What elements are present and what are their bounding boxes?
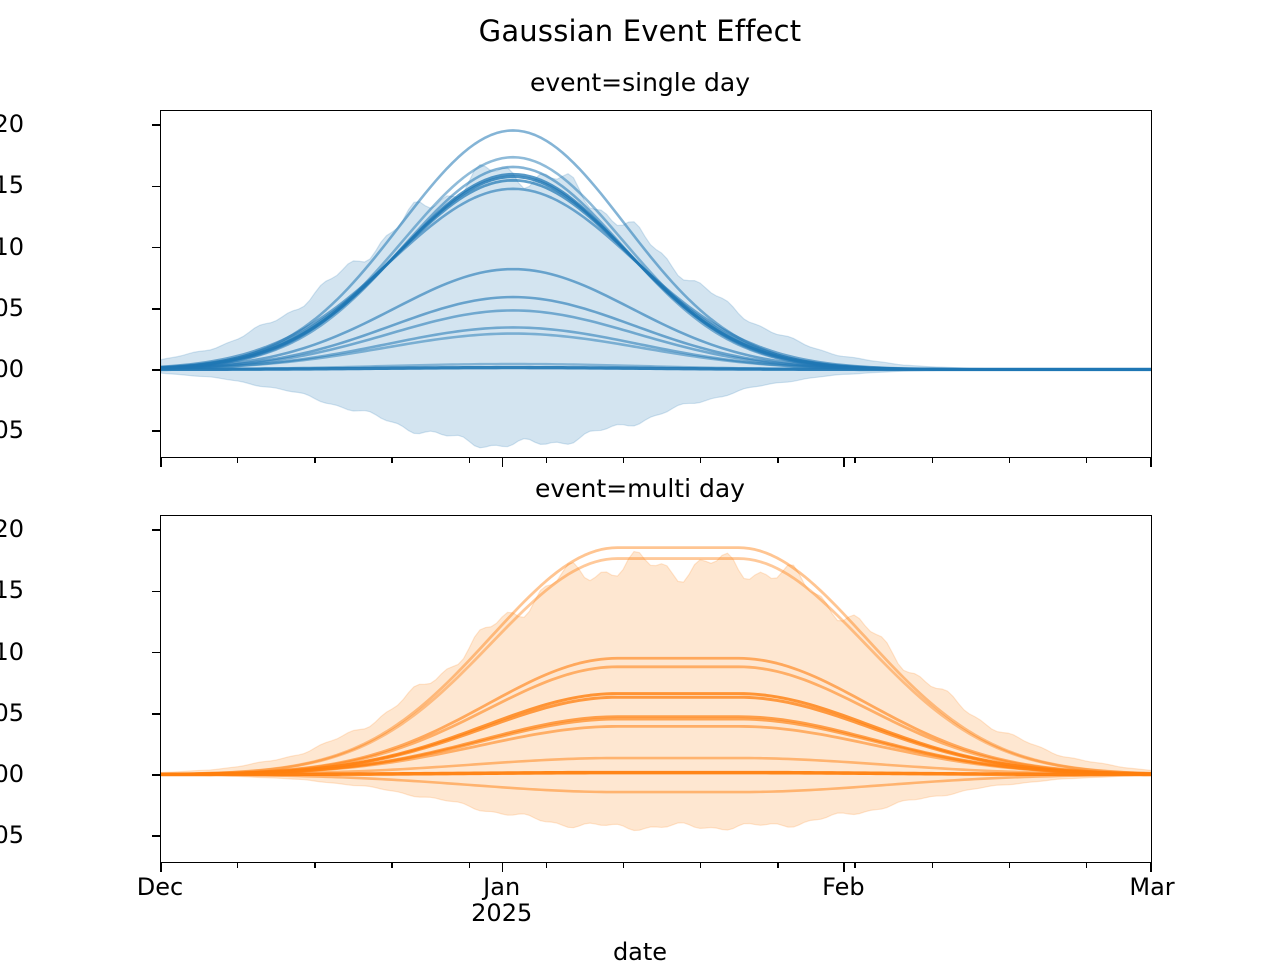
- x-tick-major: [843, 863, 845, 872]
- x-tick-minor: [469, 458, 470, 463]
- y-tick-label: 0.15: [0, 173, 24, 197]
- x-tick-minor: [623, 458, 624, 463]
- y-tick-mark: [152, 713, 160, 715]
- credible-interval-band: [161, 552, 1151, 831]
- y-tick-label: 0.00: [0, 762, 24, 786]
- y-tick-mark: [152, 308, 160, 310]
- y-tick-label: 0.20: [0, 112, 24, 136]
- credible-interval-band: [161, 165, 1151, 448]
- x-tick-label: Feb: [822, 875, 865, 901]
- x-tick-minor: [391, 458, 392, 463]
- x-tick-minor: [391, 863, 392, 868]
- x-tick-minor: [854, 458, 855, 463]
- x-tick-minor: [932, 458, 933, 463]
- x-tick-major: [843, 458, 845, 467]
- y-axis-single-day: 0.200.150.100.050.00−0.05: [0, 110, 152, 458]
- y-tick-mark: [152, 774, 160, 776]
- figure-title: Gaussian Event Effect: [0, 14, 1280, 48]
- x-tick-major: [160, 458, 162, 467]
- x-tick-minor: [777, 863, 778, 868]
- y-tick-mark: [152, 430, 160, 432]
- x-tick-label-month: Feb: [822, 873, 865, 901]
- y-tick-label: 0.00: [0, 357, 24, 381]
- y-tick-mark: [152, 529, 160, 531]
- y-tick-label: 0.10: [0, 640, 24, 664]
- x-tick-major: [502, 863, 504, 872]
- x-tick-minor: [546, 863, 547, 868]
- y-tick-mark: [152, 591, 160, 593]
- y-tick-label: 0.15: [0, 578, 24, 602]
- x-tick-minor: [1009, 863, 1010, 868]
- y-tick-mark: [152, 369, 160, 371]
- y-tick-mark: [152, 186, 160, 188]
- matplotlib-figure: Gaussian Event Effect event=single day 0…: [0, 0, 1280, 960]
- axes-multi-day: [160, 515, 1152, 863]
- x-tick-minor: [623, 863, 624, 868]
- x-tick-minor: [854, 863, 855, 868]
- x-tick-minor: [700, 863, 701, 868]
- x-tick-minor: [314, 863, 315, 868]
- x-tick-major: [502, 458, 504, 467]
- y-tick-label: 0.10: [0, 235, 24, 259]
- subplot-title-single-day: event=single day: [0, 68, 1280, 97]
- y-tick-mark: [152, 124, 160, 126]
- x-tick-major: [1150, 458, 1152, 467]
- subplot-title-multi-day: event=multi day: [0, 474, 1280, 503]
- x-tick-minor: [1086, 458, 1087, 463]
- x-tick-label-month: Dec: [137, 873, 183, 901]
- x-tick-minor: [314, 458, 315, 463]
- x-tick-label: Mar: [1129, 875, 1174, 901]
- y-tick-label: −0.05: [0, 418, 24, 442]
- x-tick-minor: [237, 863, 238, 868]
- x-tick-major: [1150, 863, 1152, 872]
- x-tick-minor: [777, 458, 778, 463]
- x-tick-minor: [700, 458, 701, 463]
- axes-single-day: [160, 110, 1152, 458]
- posterior-draw-line-11: [161, 773, 1151, 775]
- x-tick-minor: [932, 863, 933, 868]
- y-tick-mark: [152, 835, 160, 837]
- y-tick-label: 0.05: [0, 296, 24, 320]
- plot-area-multi-day: [161, 516, 1151, 862]
- y-tick-mark: [152, 247, 160, 249]
- y-tick-mark: [152, 652, 160, 654]
- x-tick-minor: [237, 458, 238, 463]
- y-tick-label: −0.05: [0, 823, 24, 847]
- x-tick-minor: [1086, 863, 1087, 868]
- x-tick-minor: [1009, 458, 1010, 463]
- x-tick-minor: [469, 863, 470, 868]
- posterior-draw-line-13: [161, 368, 1151, 370]
- y-tick-label: 0.05: [0, 701, 24, 725]
- x-tick-label: Dec: [137, 875, 183, 901]
- x-tick-major: [160, 863, 162, 872]
- x-tick-label-month: Mar: [1129, 873, 1174, 901]
- x-tick-label: Jan2025: [471, 875, 532, 927]
- x-axis-label: date: [0, 938, 1280, 966]
- x-tick-label-month: Jan: [483, 873, 520, 901]
- y-axis-multi-day: 0.200.150.100.050.00−0.05: [0, 515, 152, 863]
- plot-area-single-day: [161, 111, 1151, 457]
- y-tick-label: 0.20: [0, 517, 24, 541]
- x-tick-label-year: 2025: [471, 901, 532, 927]
- x-tick-minor: [546, 458, 547, 463]
